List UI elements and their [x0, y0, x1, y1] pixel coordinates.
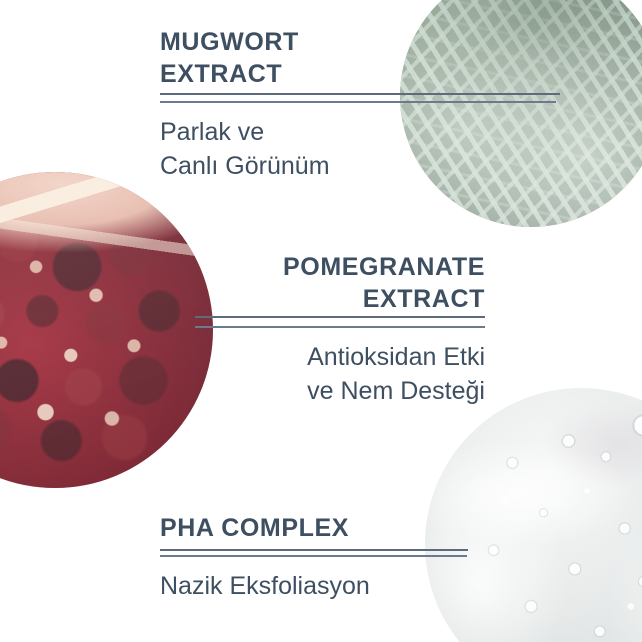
pomegranate-divider: [195, 326, 485, 328]
pomegranate-divider-overlay: [195, 316, 485, 318]
pha-benefit-text: Nazik Eksfoliasyon: [160, 570, 467, 604]
mugwort-heading: MUGWORT EXTRACT: [160, 26, 480, 90]
pomegranate-heading: POMEGRANATE EXTRACT: [195, 251, 485, 315]
pomegranate-text-block: POMEGRANATE EXTRACT Antioksidan Etki ve …: [195, 251, 485, 408]
pha-divider-overlay: [160, 549, 468, 551]
ingredient-benefits-infographic: MUGWORT EXTRACT Parlak ve Canlı Görünüm …: [0, 0, 642, 642]
mugwort-divider: [160, 101, 556, 103]
pha-heading: PHA COMPLEX: [160, 512, 467, 544]
pomegranate-benefit-text: Antioksidan Etki ve Nem Desteği: [195, 341, 485, 408]
pomegranate-highlight-layer: [0, 172, 213, 488]
mugwort-text-block: MUGWORT EXTRACT Parlak ve Canlı Görünüm: [160, 26, 480, 183]
pomegranate-fruit-photo: [0, 172, 213, 488]
pha-text-block: PHA COMPLEX Nazik Eksfoliasyon: [160, 512, 467, 604]
mugwort-divider-overlay: [160, 93, 560, 95]
mugwort-benefit-text: Parlak ve Canlı Görünüm: [160, 116, 480, 183]
pha-divider: [160, 555, 467, 557]
